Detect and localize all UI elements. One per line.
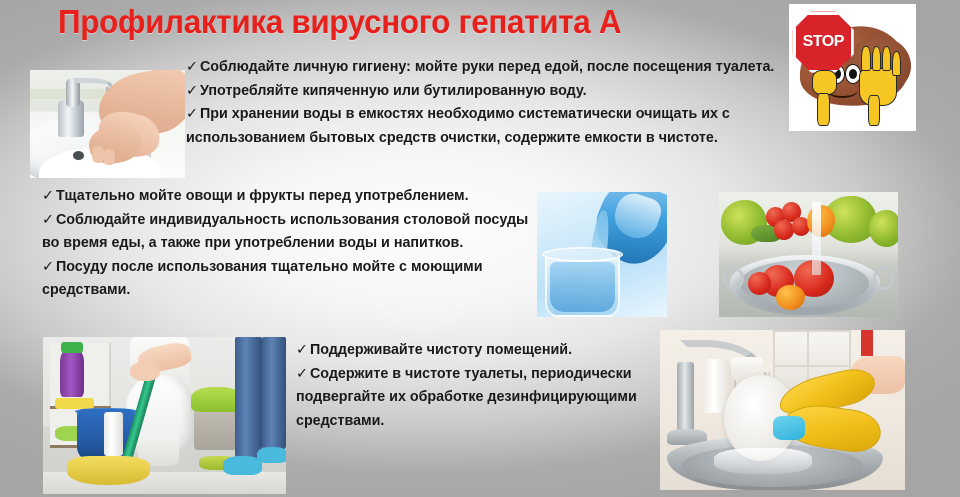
colander-handle-right	[873, 267, 894, 290]
list-item: ✓Соблюдайте индивидуальность использован…	[42, 209, 542, 256]
list-item: ✓Тщательно мойте овощи и фрукты перед уп…	[42, 185, 542, 209]
check-icon: ✓	[186, 106, 200, 122]
bathroom-cleaning-image	[43, 337, 286, 494]
washing-vegetables-image	[719, 192, 898, 317]
list-item-text: Соблюдайте индивидуальность использовани…	[42, 212, 528, 252]
slide-root: Профилактика вирусного гепатита А STOP	[0, 0, 960, 497]
palm-finger	[861, 46, 871, 71]
list-item-text: Содержите в чистоте туалеты, периодическ…	[296, 366, 637, 429]
food-and-dishes-list: ✓Тщательно мойте овощи и фрукты перед уп…	[42, 185, 542, 303]
tomato-in-colander	[748, 272, 771, 295]
liver-stop-image: STOP	[789, 4, 916, 131]
faucet-stem	[677, 362, 694, 439]
hand-gripping-mop	[130, 362, 159, 381]
glass-water-fill	[550, 262, 615, 312]
pupil	[849, 69, 857, 79]
handwashing-image	[30, 70, 185, 178]
list-item-text: При хранении воды в емкостях необходимо …	[186, 106, 730, 146]
tomato	[774, 220, 794, 240]
slipper	[257, 447, 286, 463]
list-item-text: Поддерживайте чистоту помещений.	[310, 342, 572, 358]
list-item: ✓Поддерживайте чистоту помещений.	[296, 339, 666, 363]
check-icon: ✓	[42, 188, 56, 204]
sink-drain	[73, 151, 84, 160]
dishwashing-image	[660, 330, 905, 490]
colander-handle-left	[723, 267, 744, 290]
onion-in-colander	[776, 285, 805, 310]
glass-rim	[542, 247, 623, 262]
stop-sign-label: STOP	[803, 33, 844, 51]
water-stream	[812, 202, 821, 275]
liver-leg-left	[817, 93, 830, 126]
list-item-text: Тщательно мойте овощи и фрукты перед упо…	[56, 188, 469, 204]
premises-cleanliness-list: ✓Поддерживайте чистоту помещений. ✓Содер…	[296, 339, 666, 433]
yellow-mop-head	[67, 456, 150, 484]
liver-fist-holding-sign	[812, 70, 837, 95]
slipper	[223, 456, 262, 475]
list-item-text: Употребляйте кипяченную или бутилированн…	[200, 83, 587, 99]
palm-finger	[882, 46, 892, 71]
list-item: ✓Посуду после использования тщательно мо…	[42, 256, 542, 303]
check-icon: ✓	[296, 366, 310, 382]
check-icon: ✓	[296, 342, 310, 358]
palm-finger	[892, 51, 902, 76]
check-icon: ✓	[186, 59, 200, 75]
list-item-text: Соблюдайте личную гигиену: мойте руки пе…	[200, 59, 774, 75]
personal-hygiene-list: ✓Соблюдайте личную гигиену: мойте руки п…	[186, 56, 786, 150]
page-title: Профилактика вирусного гепатита А	[58, 2, 761, 42]
red-wall-accent	[861, 330, 873, 356]
list-item: ✓Соблюдайте личную гигиену: мойте руки п…	[186, 56, 786, 80]
palm-finger	[872, 46, 882, 71]
list-item: ✓Употребляйте кипяченную или бутилирован…	[186, 80, 786, 104]
water-splash	[714, 448, 812, 474]
finger	[103, 149, 115, 165]
lettuce	[869, 210, 898, 248]
spray-bottle	[60, 350, 84, 397]
jeans-leg	[262, 337, 286, 450]
blue-sponge	[773, 416, 805, 440]
cabinet-shelf-line	[773, 365, 851, 367]
jeans-leg	[235, 337, 262, 459]
pouring-water-image	[537, 192, 667, 317]
list-item: ✓При хранении воды в емкостях необходимо…	[186, 103, 786, 150]
list-item: ✓Содержите в чистоте туалеты, периодичес…	[296, 363, 666, 434]
check-icon: ✓	[186, 83, 200, 99]
check-icon: ✓	[42, 259, 56, 275]
spray-nozzle	[61, 342, 83, 353]
liver-leg-right	[868, 95, 881, 125]
detergent-bottle	[104, 412, 123, 456]
list-item-text: Посуду после использования тщательно мой…	[42, 259, 483, 299]
check-icon: ✓	[42, 212, 56, 228]
